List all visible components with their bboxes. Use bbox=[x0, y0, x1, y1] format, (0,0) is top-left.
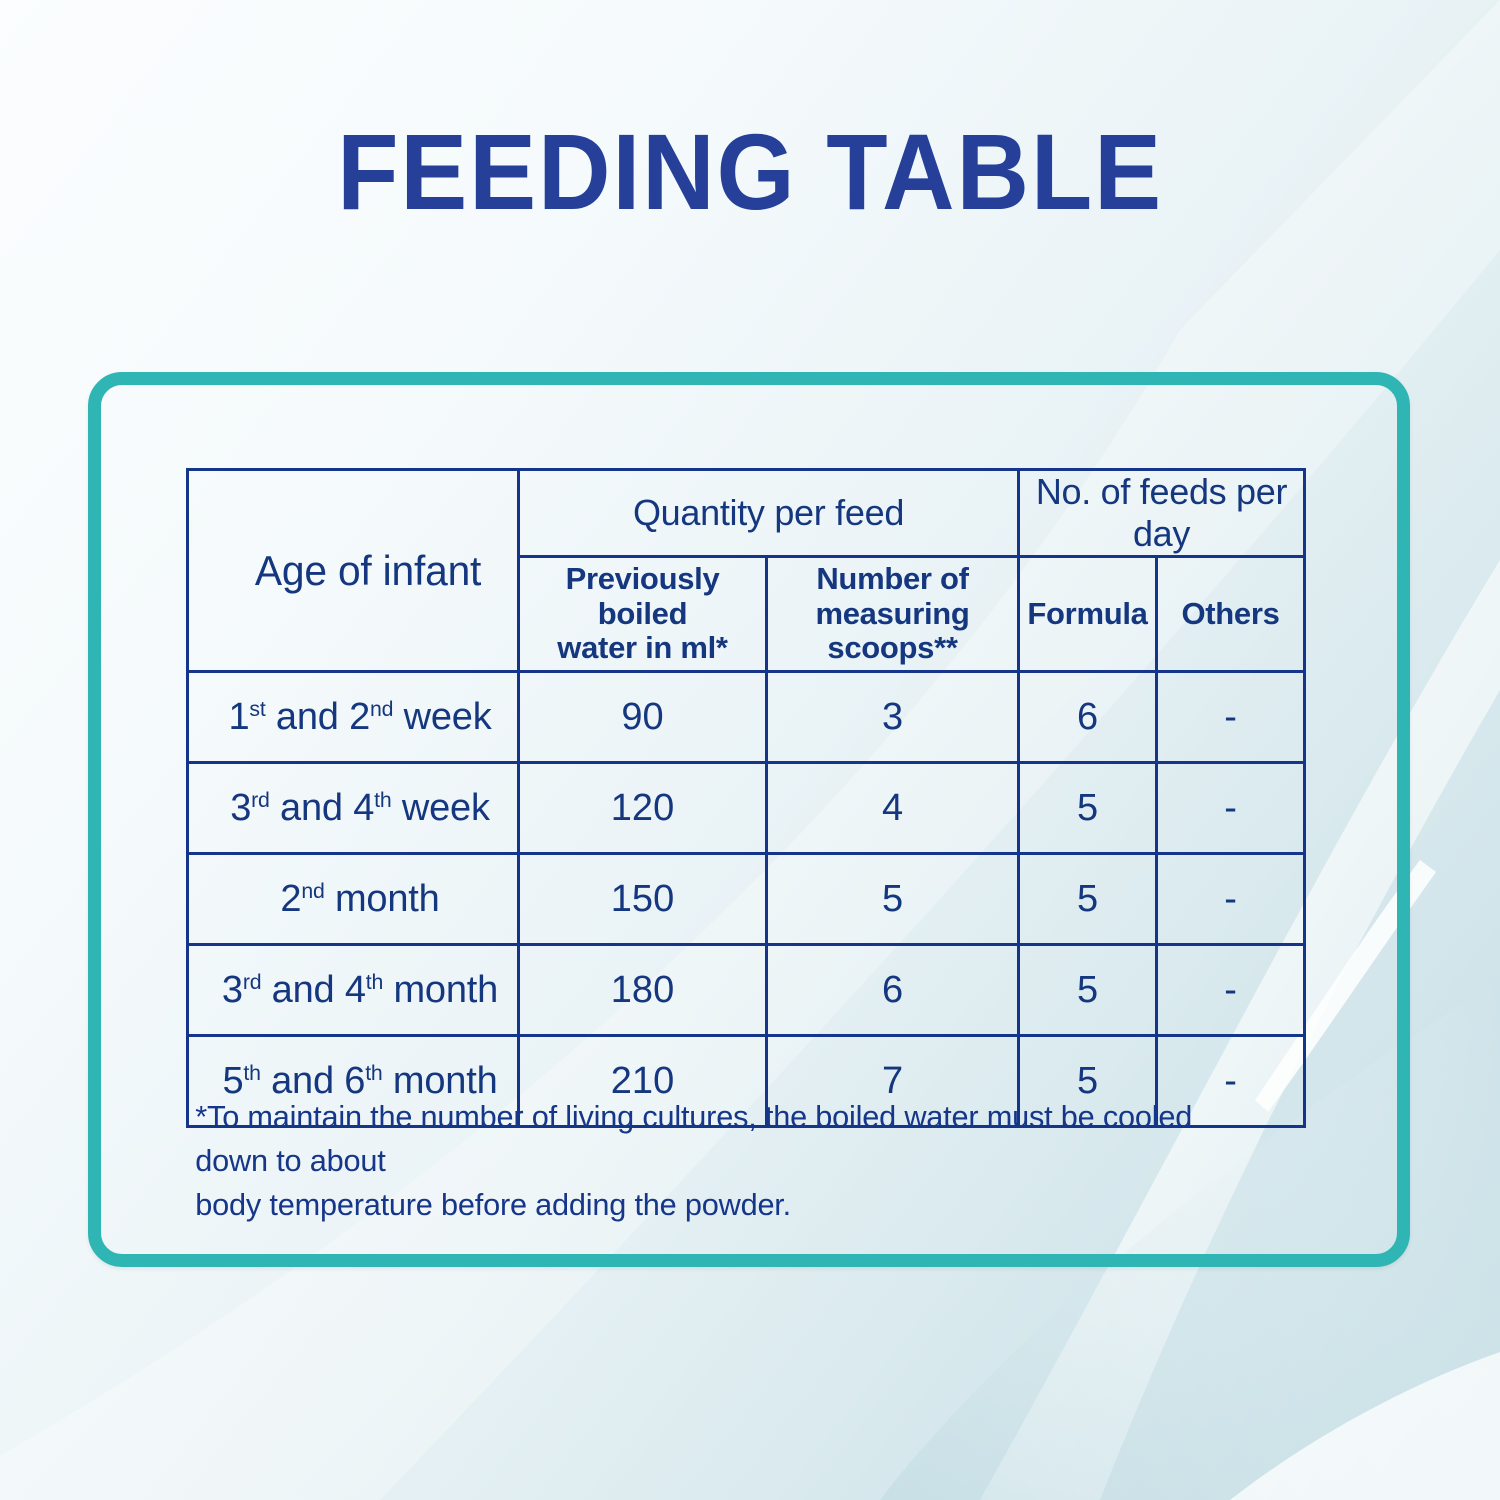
age-number: 3 bbox=[230, 787, 251, 829]
age-ordinal-suffix-2: th bbox=[366, 969, 383, 993]
age-unit: month bbox=[325, 878, 440, 920]
header-scoops-line-1: Number of bbox=[816, 561, 968, 596]
age-ordinal-suffix-2: th bbox=[374, 787, 391, 811]
cell-formula: 6 bbox=[1019, 672, 1157, 763]
table-row: 2nd month 150 5 5 - bbox=[188, 854, 1305, 945]
cell-scoops: 3 bbox=[767, 672, 1019, 763]
age-ordinal-suffix: rd bbox=[243, 969, 262, 993]
age-number: 2 bbox=[280, 878, 301, 920]
age-ordinal-suffix: th bbox=[243, 1060, 260, 1084]
header-water-line-2: water in ml* bbox=[557, 630, 727, 665]
cell-age: 3rd and 4th week bbox=[188, 763, 519, 854]
age-ordinal-suffix-2: th bbox=[365, 1060, 382, 1084]
header-number-of-measuring-scoops: Number of measuring scoops** bbox=[767, 557, 1019, 672]
age-unit: week bbox=[391, 787, 489, 829]
header-no-of-feeds-per-day: No. of feeds per day bbox=[1019, 470, 1305, 557]
cell-age: 1st and 2nd week bbox=[188, 672, 519, 763]
cell-water: 150 bbox=[519, 854, 767, 945]
cell-formula: 5 bbox=[1019, 854, 1157, 945]
cell-water: 120 bbox=[519, 763, 767, 854]
cell-formula: 5 bbox=[1019, 763, 1157, 854]
cell-others: - bbox=[1157, 672, 1305, 763]
footnote-text: *To maintain the number of living cultur… bbox=[195, 1095, 1244, 1227]
cell-age: 3rd and 4th month bbox=[188, 945, 519, 1036]
table-header-row-groups: Age of infant Quantity per feed No. of f… bbox=[188, 470, 1305, 557]
cell-scoops: 5 bbox=[767, 854, 1019, 945]
header-age-of-infant: Age of infant bbox=[192, 470, 513, 672]
age-ordinal-suffix: nd bbox=[301, 878, 324, 902]
feeding-table: Age of infant Quantity per feed No. of f… bbox=[186, 468, 1306, 1128]
header-water-line-1: Previously boiled bbox=[566, 561, 720, 631]
age-ordinal-suffix-2: nd bbox=[370, 696, 393, 720]
header-scoops-line-2: measuring scoops** bbox=[815, 596, 969, 666]
cell-others: - bbox=[1157, 854, 1305, 945]
cell-others: - bbox=[1157, 945, 1305, 1036]
cell-water: 180 bbox=[519, 945, 767, 1036]
table-row: 3rd and 4th month 180 6 5 - bbox=[188, 945, 1305, 1036]
table-row: 3rd and 4th week 120 4 5 - bbox=[188, 763, 1305, 854]
cell-scoops: 4 bbox=[767, 763, 1019, 854]
page-title: FEEDING TABLE bbox=[53, 118, 1448, 226]
age-unit: month bbox=[383, 969, 498, 1011]
header-quantity-per-feed: Quantity per feed bbox=[519, 470, 1019, 557]
age-ordinal-suffix: st bbox=[249, 696, 265, 720]
feeding-table-container: Age of infant Quantity per feed No. of f… bbox=[186, 468, 1306, 1128]
header-formula: Formula bbox=[1019, 557, 1157, 672]
cell-others: - bbox=[1157, 763, 1305, 854]
cell-water: 90 bbox=[519, 672, 767, 763]
age-ordinal-suffix: rd bbox=[251, 787, 270, 811]
cell-age: 2nd month bbox=[188, 854, 519, 945]
age-conjunction: and 4 bbox=[270, 787, 374, 829]
age-unit: week bbox=[393, 696, 491, 738]
age-conjunction: and 4 bbox=[261, 969, 365, 1011]
table-row: 1st and 2nd week 90 3 6 - bbox=[188, 672, 1305, 763]
age-number: 1 bbox=[228, 696, 249, 738]
cell-scoops: 6 bbox=[767, 945, 1019, 1036]
header-others: Others bbox=[1157, 557, 1305, 672]
age-conjunction: and 2 bbox=[266, 696, 370, 738]
age-number: 3 bbox=[222, 969, 243, 1011]
cell-formula: 5 bbox=[1019, 945, 1157, 1036]
header-previously-boiled-water: Previously boiled water in ml* bbox=[519, 557, 767, 672]
